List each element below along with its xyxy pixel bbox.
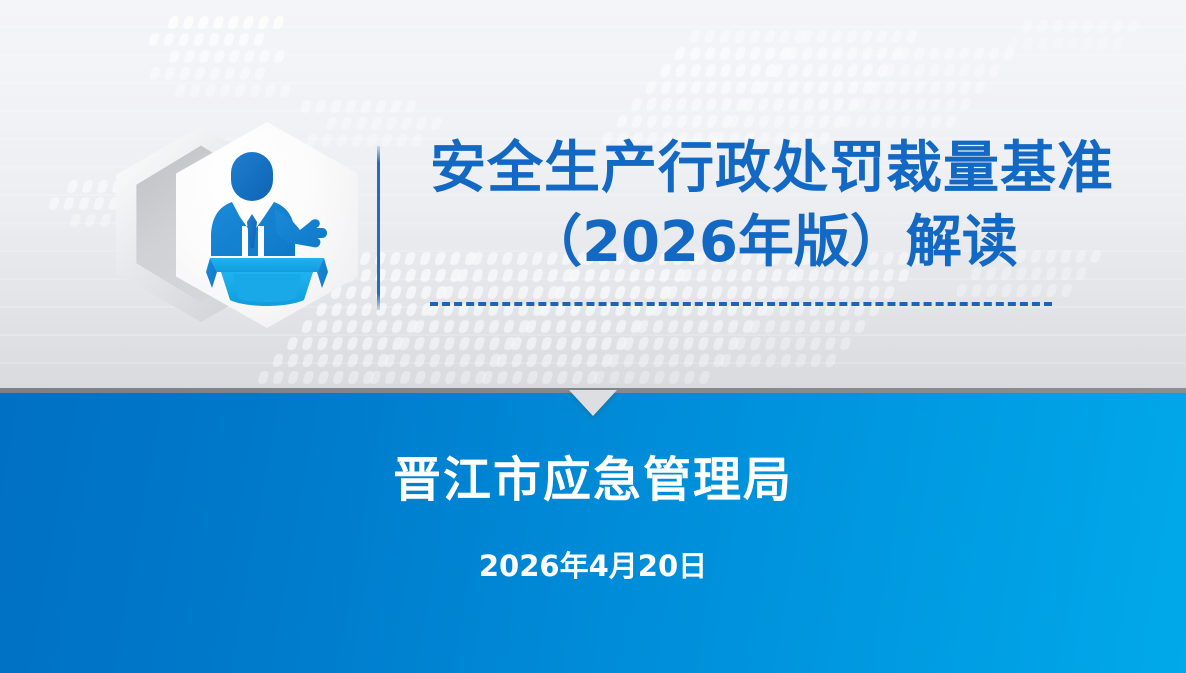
down-arrow-notch (569, 390, 617, 416)
header-panel: 安全生产行政处罚裁量基准 （2026年版）解读 (0, 0, 1186, 390)
page-title-line-1: 安全生产行政处罚裁量基准 (392, 132, 1152, 206)
presentation-date: 2026年4月20日 (0, 543, 1186, 585)
footer-panel: 晋江市应急管理局 2026年4月20日 (0, 393, 1186, 673)
title-slide: 安全生产行政处罚裁量基准 （2026年版）解读 晋江市应急管理局 2026年4月… (0, 0, 1186, 673)
title-dashed-underline (430, 302, 1052, 306)
page-title-line-2: （2026年版）解读 (392, 206, 1152, 280)
title-block: 安全生产行政处罚裁量基准 （2026年版）解读 (392, 132, 1152, 280)
logo (108, 118, 368, 330)
title-divider-rule (377, 146, 380, 310)
organization-name: 晋江市应急管理局 (0, 451, 1186, 509)
speaker-at-podium-icon (176, 122, 358, 328)
